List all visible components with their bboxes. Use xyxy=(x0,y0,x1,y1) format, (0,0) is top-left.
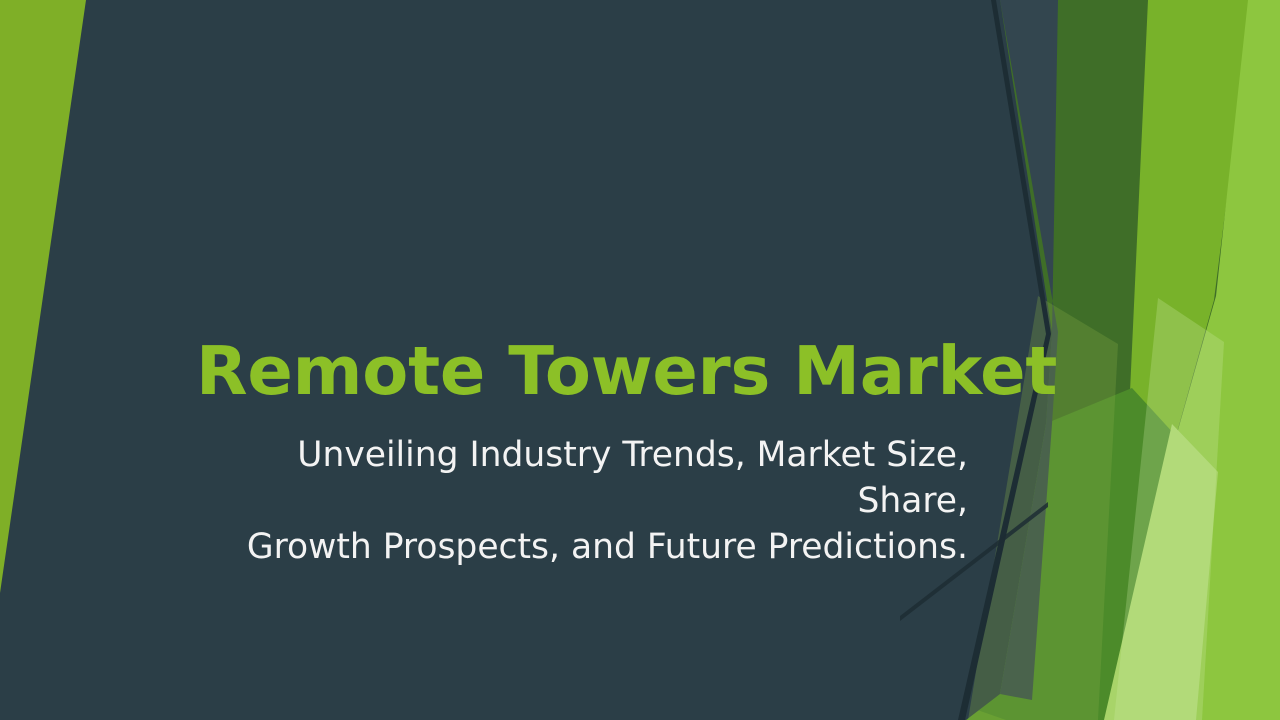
title-slide: Remote Towers Market Unveiling Industry … xyxy=(0,0,1280,720)
decorative-background xyxy=(0,0,1280,720)
